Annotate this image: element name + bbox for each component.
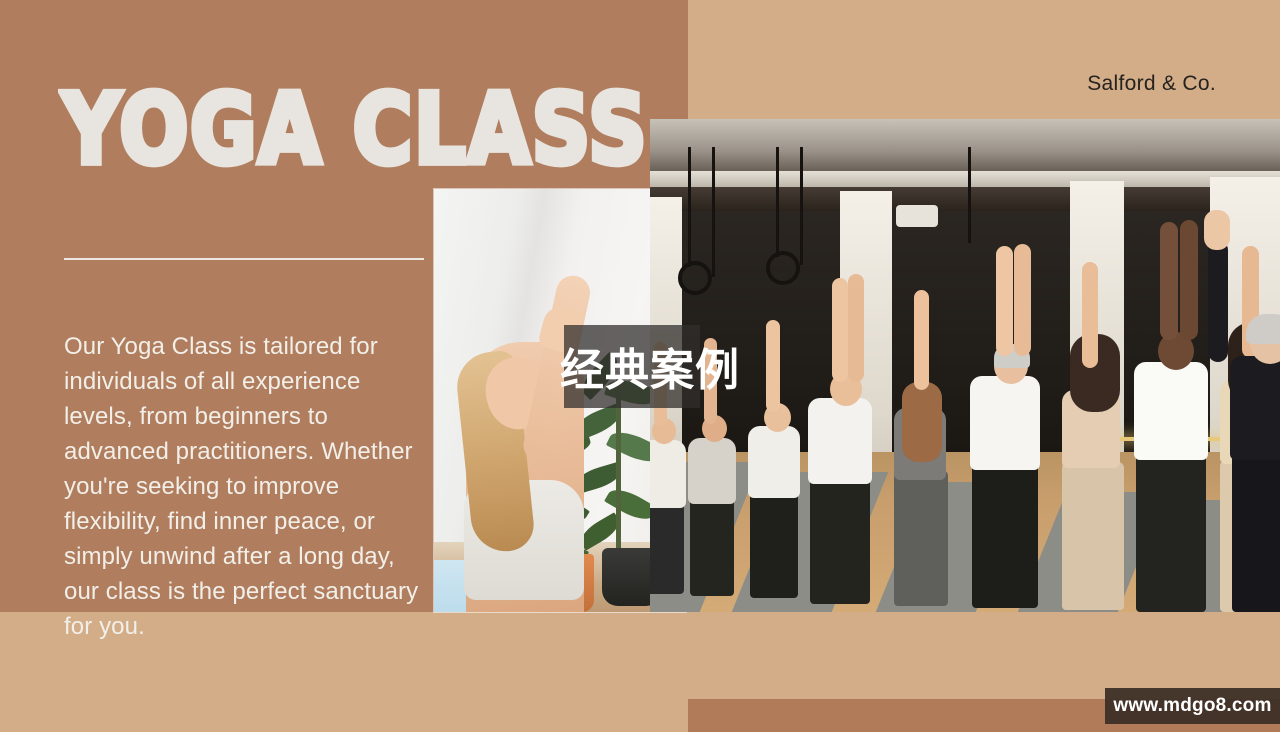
photo-main-gym-ring	[766, 251, 800, 285]
photo-main-strap	[800, 147, 803, 265]
photo-main-strap	[776, 147, 779, 257]
overlay-label: 经典案例	[560, 349, 740, 393]
photo-main-ceiling	[650, 119, 1280, 211]
photo-main-strap	[712, 147, 715, 277]
page-title: YOGA CLASS	[62, 82, 648, 178]
brand-name: Salford & Co.	[1087, 72, 1216, 96]
watermark-badge: www.mdgo8.com	[1105, 688, 1280, 724]
photo-main-strap	[688, 147, 691, 267]
photo-main-strap	[968, 147, 971, 243]
photo-main-ac-unit	[896, 205, 938, 227]
photo-main-yoga-class	[650, 119, 1280, 612]
photo-main-ceiling-beam	[650, 171, 1280, 187]
watermark-url: www.mdgo8.com	[1113, 695, 1271, 717]
body-paragraph: Our Yoga Class is tailored for individua…	[64, 329, 432, 644]
title-divider	[64, 258, 424, 260]
slide-canvas: Salford & Co. YOGA CLASS Our Yoga Class …	[0, 0, 1280, 732]
photo-main-gym-ring	[678, 261, 712, 295]
